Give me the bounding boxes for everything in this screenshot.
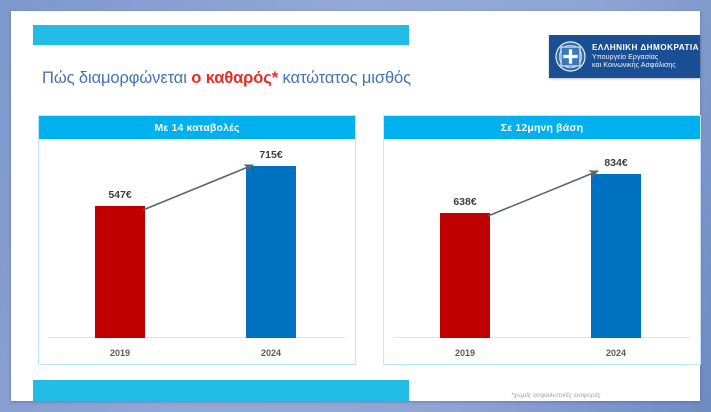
x-tick-left-2019: 2019 (85, 348, 155, 358)
greek-coat-of-arms-icon (555, 41, 586, 72)
chart-plot-area-left: 547€ 715€ 2019 2024 (39, 139, 355, 364)
accent-bar-top (33, 25, 409, 45)
bar-left-2019 (95, 206, 145, 338)
bar-label-left-2024: 715€ (241, 149, 301, 161)
bar-label-right-2024: 834€ (586, 157, 646, 169)
bar-right-2019 (440, 213, 490, 338)
ministry-logo-text: ΕΛΛΗΝΙΚΗ ΔΗΜΟΚΡΑΤΙΑ Υπουργείο Εργασίας κ… (592, 43, 699, 69)
chart-panel-title-right: Σε 12μηνη βάση (384, 116, 700, 139)
bar-right-2024 (591, 174, 641, 338)
chart-panel-14-payments: Με 14 καταβολές 547€ 715€ (38, 115, 356, 365)
ministry-logo: ΕΛΛΗΝΙΚΗ ΔΗΜΟΚΡΑΤΙΑ Υπουργείο Εργασίας κ… (549, 35, 700, 78)
chart-panel-12-month-basis: Σε 12μηνη βάση 638€ 834€ (383, 115, 701, 365)
page-title-part2: κατώτατος μισθός (278, 69, 411, 87)
chart-plot-area-right: 638€ 834€ 2019 2024 (384, 139, 700, 364)
page-title: Πώς διαμορφώνεται ο καθαρός* κατώτατος μ… (42, 67, 411, 89)
x-tick-left-2024: 2024 (236, 348, 306, 358)
logo-line-ministry-2: και Κοινωνικής Ασφάλισης (592, 61, 699, 69)
footnote: *χωρίς ασφαλιστικές εισφορές (511, 392, 601, 399)
x-axis-line-right (394, 337, 690, 338)
slide-root: Πώς διαμορφώνεται ο καθαρός* κατώτατος μ… (0, 0, 711, 412)
page-title-highlight: ο καθαρός* (191, 69, 278, 87)
bar-label-right-2019: 638€ (435, 196, 495, 208)
slide-card: Πώς διαμορφώνεται ο καθαρός* κατώτατος μ… (11, 11, 700, 401)
x-tick-right-2019: 2019 (430, 348, 500, 358)
logo-line-republic: ΕΛΛΗΝΙΚΗ ΔΗΜΟΚΡΑΤΙΑ (592, 43, 699, 53)
bar-left-2024 (246, 166, 296, 338)
x-axis-line-left (49, 337, 345, 338)
logo-line-ministry: Υπουργείο Εργασίας (592, 53, 699, 61)
chart-panel-title-left: Με 14 καταβολές (39, 116, 355, 139)
x-tick-right-2024: 2024 (581, 348, 651, 358)
accent-bar-bottom (33, 380, 409, 401)
bar-label-left-2019: 547€ (90, 189, 150, 201)
page-title-part1: Πώς διαμορφώνεται (42, 69, 191, 87)
